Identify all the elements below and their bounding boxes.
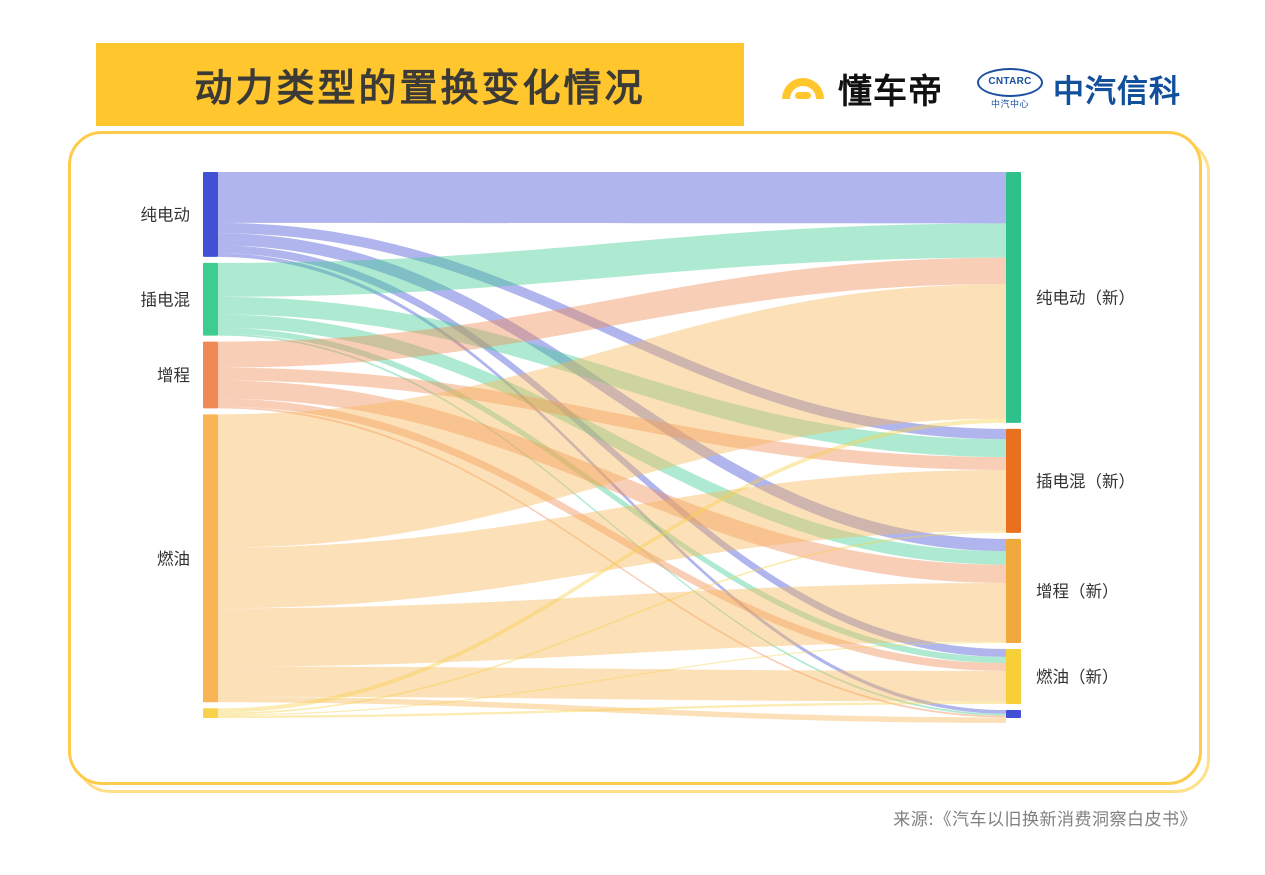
- cntarc-mark-text: CNTARC: [988, 77, 1031, 87]
- sankey-node-phev_new[interactable]: [1006, 429, 1021, 533]
- sankey-node-label-phev: 插电混: [141, 290, 191, 309]
- title-banner: 动力类型的置换变化情况: [96, 43, 744, 126]
- zhongqixinke-wordmark: 中汽信科: [1053, 66, 1181, 111]
- sankey-node-label-bev: 纯电动: [141, 205, 191, 224]
- sankey-node-label-erev_new: 增程（新）: [1036, 582, 1119, 601]
- sankey-node-label-bev_new: 纯电动（新）: [1036, 288, 1135, 307]
- sankey-node-label-erev: 增程: [157, 366, 190, 385]
- sankey-node-ice_new[interactable]: [1006, 649, 1021, 704]
- sankey-links: [218, 172, 1006, 723]
- sankey-node-erev[interactable]: [203, 342, 218, 409]
- sankey-node-label-ice_new: 燃油（新）: [1036, 668, 1119, 687]
- sankey-chart: 纯电动插电混增程燃油纯电动（新）插电混（新）增程（新）燃油（新）: [68, 131, 1202, 781]
- dongchedi-arch-icon: [778, 66, 828, 111]
- dongchedi-logo: 懂车帝: [778, 64, 943, 113]
- sankey-node-label-ice: 燃油: [157, 549, 190, 568]
- page-title: 动力类型的置换变化情况: [194, 57, 645, 112]
- sankey-link: [218, 702, 1006, 718]
- cntarc-sub-text: 中汽中心: [991, 100, 1029, 109]
- sankey-node-other[interactable]: [203, 708, 218, 718]
- poster-root: 动力类型的置换变化情况 懂车帝 CNTARC 中汽中心 中汽信科 纯电动插电混增…: [0, 0, 1265, 875]
- dongchedi-wordmark: 懂车帝: [838, 64, 943, 113]
- source-note: 来源:《汽车以旧换新消费洞察白皮书》: [893, 805, 1197, 830]
- brand-logos: 懂车帝 CNTARC 中汽中心 中汽信科: [778, 58, 1181, 118]
- sankey-svg: 纯电动插电混增程燃油纯电动（新）插电混（新）增程（新）燃油（新）: [68, 131, 1202, 781]
- sankey-node-ice[interactable]: [203, 414, 218, 702]
- sankey-node-erev_new[interactable]: [1006, 539, 1021, 643]
- sankey-node-bev[interactable]: [203, 172, 218, 257]
- sankey-link: [218, 172, 1006, 223]
- sankey-node-bev_new[interactable]: [1006, 172, 1021, 423]
- zhongqixinke-logo: CNTARC 中汽中心 中汽信科: [977, 66, 1181, 111]
- sankey-node-label-phev_new: 插电混（新）: [1036, 472, 1135, 491]
- cntarc-oval-icon: CNTARC 中汽中心: [977, 68, 1043, 109]
- sankey-node-other_new[interactable]: [1006, 710, 1021, 718]
- sankey-node-phev[interactable]: [203, 263, 218, 336]
